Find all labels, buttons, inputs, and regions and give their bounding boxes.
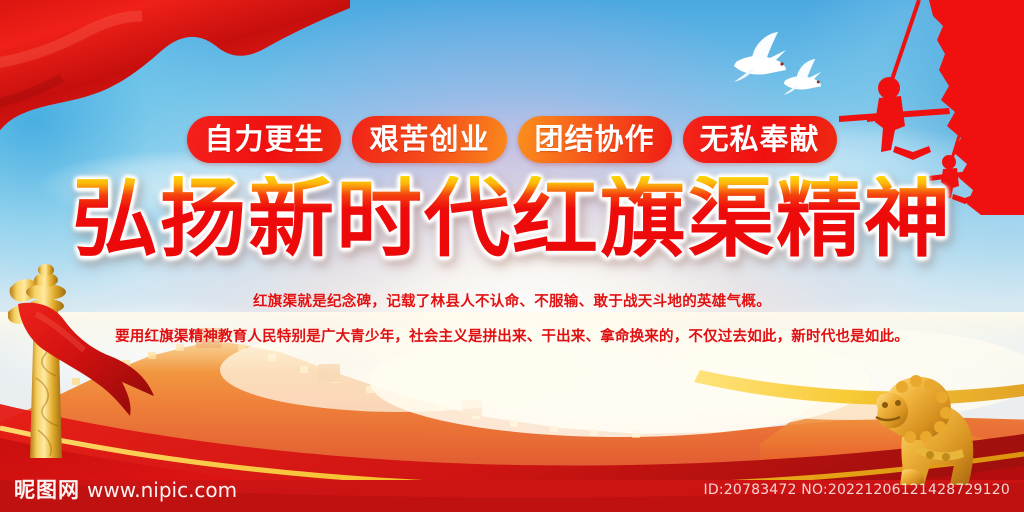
red-ribbon-icon xyxy=(18,300,178,420)
pillar-finial xyxy=(38,264,54,276)
lion-bell xyxy=(942,453,950,461)
subtitle-line-1: 红旗渠就是纪念碑，记载了林县人不认命、不服输、敢于战天斗地的英雄气概。 xyxy=(0,290,1024,311)
ribbon-body xyxy=(18,303,154,416)
poster-canvas: 自力更生 艰苦创业 团结协作 无私奉献 弘扬新时代红旗渠精神 红旗渠就是纪念碑，… xyxy=(0,0,1024,512)
slogan-pill-row: 自力更生 艰苦创业 团结协作 无私奉献 xyxy=(0,116,1024,163)
site-logo-url: www.nipic.com xyxy=(87,478,237,502)
red-ribbon xyxy=(18,300,178,420)
guardian-lion xyxy=(858,361,998,486)
asset-id-watermark: ID:20783472 NO:20221206121428729120 xyxy=(704,482,1010,498)
slogan-pill-3[interactable]: 无私奉献 xyxy=(683,116,837,163)
guardian-lion-icon xyxy=(858,361,998,486)
subtitle-line-2: 要用红旗渠精神教育人民特别是广大青少年，社会主义是拼出来、干出来、拿命换来的，不… xyxy=(0,325,1024,346)
slogan-pill-0[interactable]: 自力更生 xyxy=(187,116,341,163)
site-logo[interactable]: 昵图网 www.nipic.com xyxy=(14,474,237,504)
doves-group xyxy=(690,28,850,98)
lion-eye xyxy=(882,402,888,408)
page-title: 弘扬新时代红旗渠精神 xyxy=(72,176,952,262)
dove-icon xyxy=(784,59,821,95)
slogan-pill-1[interactable]: 艰苦创业 xyxy=(352,116,506,163)
slogan-pill-2[interactable]: 团结协作 xyxy=(518,116,672,163)
dove-icon xyxy=(734,32,786,82)
lion-eye xyxy=(895,400,901,406)
main-title-wrap: 弘扬新时代红旗渠精神 xyxy=(0,176,1024,262)
site-logo-cn: 昵图网 xyxy=(14,474,80,504)
lion-bell xyxy=(926,451,934,459)
